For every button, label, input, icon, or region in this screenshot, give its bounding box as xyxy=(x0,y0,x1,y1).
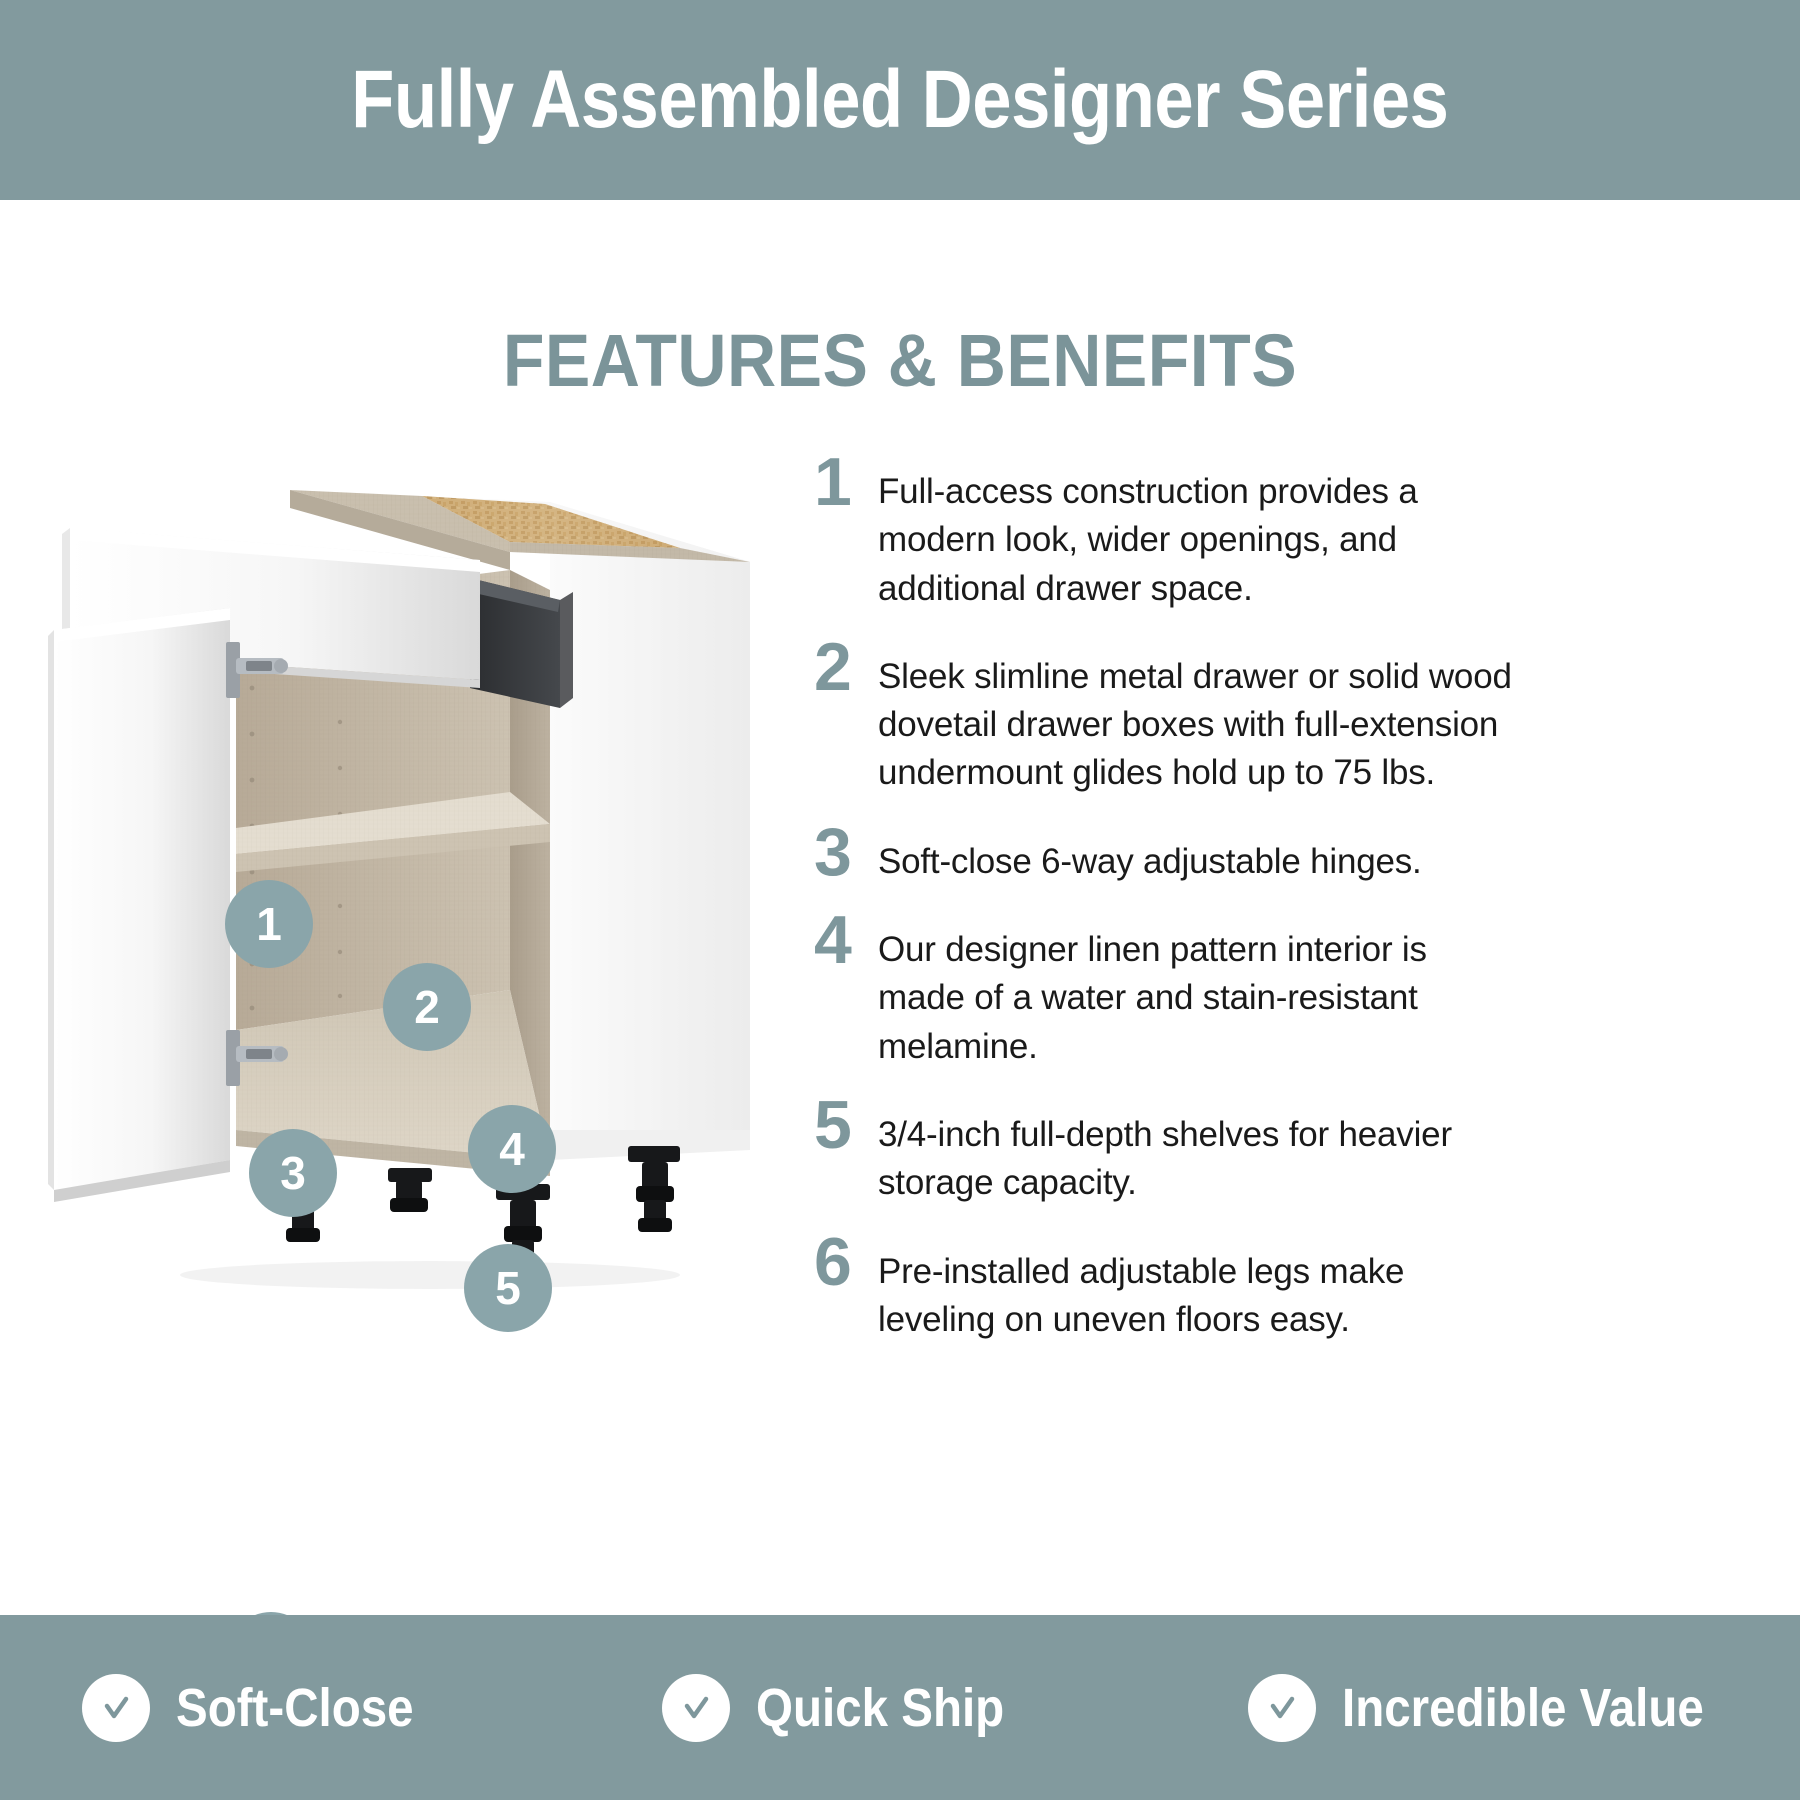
check-circle-icon xyxy=(662,1674,730,1742)
feature-text-6: Pre-installed adjustable legs make level… xyxy=(878,1230,1520,1345)
feature-number-2: 2 xyxy=(800,635,878,700)
feature-number-5: 5 xyxy=(800,1093,878,1158)
features-list: 1 Full-access construction provides a mo… xyxy=(800,450,1520,1366)
image-badge-2: 2 xyxy=(383,963,471,1051)
feature-text-1: Full-access construction provides a mode… xyxy=(878,450,1520,613)
cabinet-diagram xyxy=(40,430,800,1310)
image-badge-5: 5 xyxy=(464,1244,552,1332)
section-heading: FEATURES & BENEFITS xyxy=(72,318,1728,403)
footer-label-quick-ship: Quick Ship xyxy=(756,1677,1004,1739)
feature-item-5: 5 3/4-inch full-depth shelves for heavie… xyxy=(800,1093,1520,1208)
footer-badge-incredible-value: Incredible Value xyxy=(1248,1674,1753,1742)
product-illustration: 1 2 3 4 5 6 xyxy=(40,430,800,1310)
infographic-page: Fully Assembled Designer Series FEATURES… xyxy=(0,0,1800,1800)
check-circle-icon xyxy=(1248,1674,1316,1742)
feature-item-6: 6 Pre-installed adjustable legs make lev… xyxy=(800,1230,1520,1345)
image-badge-3: 3 xyxy=(249,1129,337,1217)
feature-text-3: Soft-close 6-way adjustable hinges. xyxy=(878,820,1520,886)
footer-bar: Soft-Close Quick Ship Incredible Value xyxy=(0,1615,1800,1800)
feature-item-1: 1 Full-access construction provides a mo… xyxy=(800,450,1520,613)
feature-number-3: 3 xyxy=(800,820,878,885)
feature-number-6: 6 xyxy=(800,1230,878,1295)
feature-number-1: 1 xyxy=(800,450,878,515)
footer-badge-soft-close: Soft-Close xyxy=(82,1674,446,1742)
feature-text-2: Sleek slimline metal drawer or solid woo… xyxy=(878,635,1520,798)
footer-label-soft-close: Soft-Close xyxy=(176,1677,414,1739)
check-circle-icon xyxy=(82,1674,150,1742)
page-title: Fully Assembled Designer Series xyxy=(351,53,1448,147)
feature-text-5: 3/4-inch full-depth shelves for heavier … xyxy=(878,1093,1520,1208)
image-badge-4: 4 xyxy=(468,1105,556,1193)
feature-item-3: 3 Soft-close 6-way adjustable hinges. xyxy=(800,820,1520,886)
footer-label-incredible-value: Incredible Value xyxy=(1342,1677,1704,1739)
feature-number-4: 4 xyxy=(800,908,878,973)
image-badge-1: 1 xyxy=(225,880,313,968)
feature-item-4: 4 Our designer linen pattern interior is… xyxy=(800,908,1520,1071)
header-bar: Fully Assembled Designer Series xyxy=(0,0,1800,200)
feature-item-2: 2 Sleek slimline metal drawer or solid w… xyxy=(800,635,1520,798)
feature-text-4: Our designer linen pattern interior is m… xyxy=(878,908,1520,1071)
footer-badge-quick-ship: Quick Ship xyxy=(662,1674,1038,1742)
